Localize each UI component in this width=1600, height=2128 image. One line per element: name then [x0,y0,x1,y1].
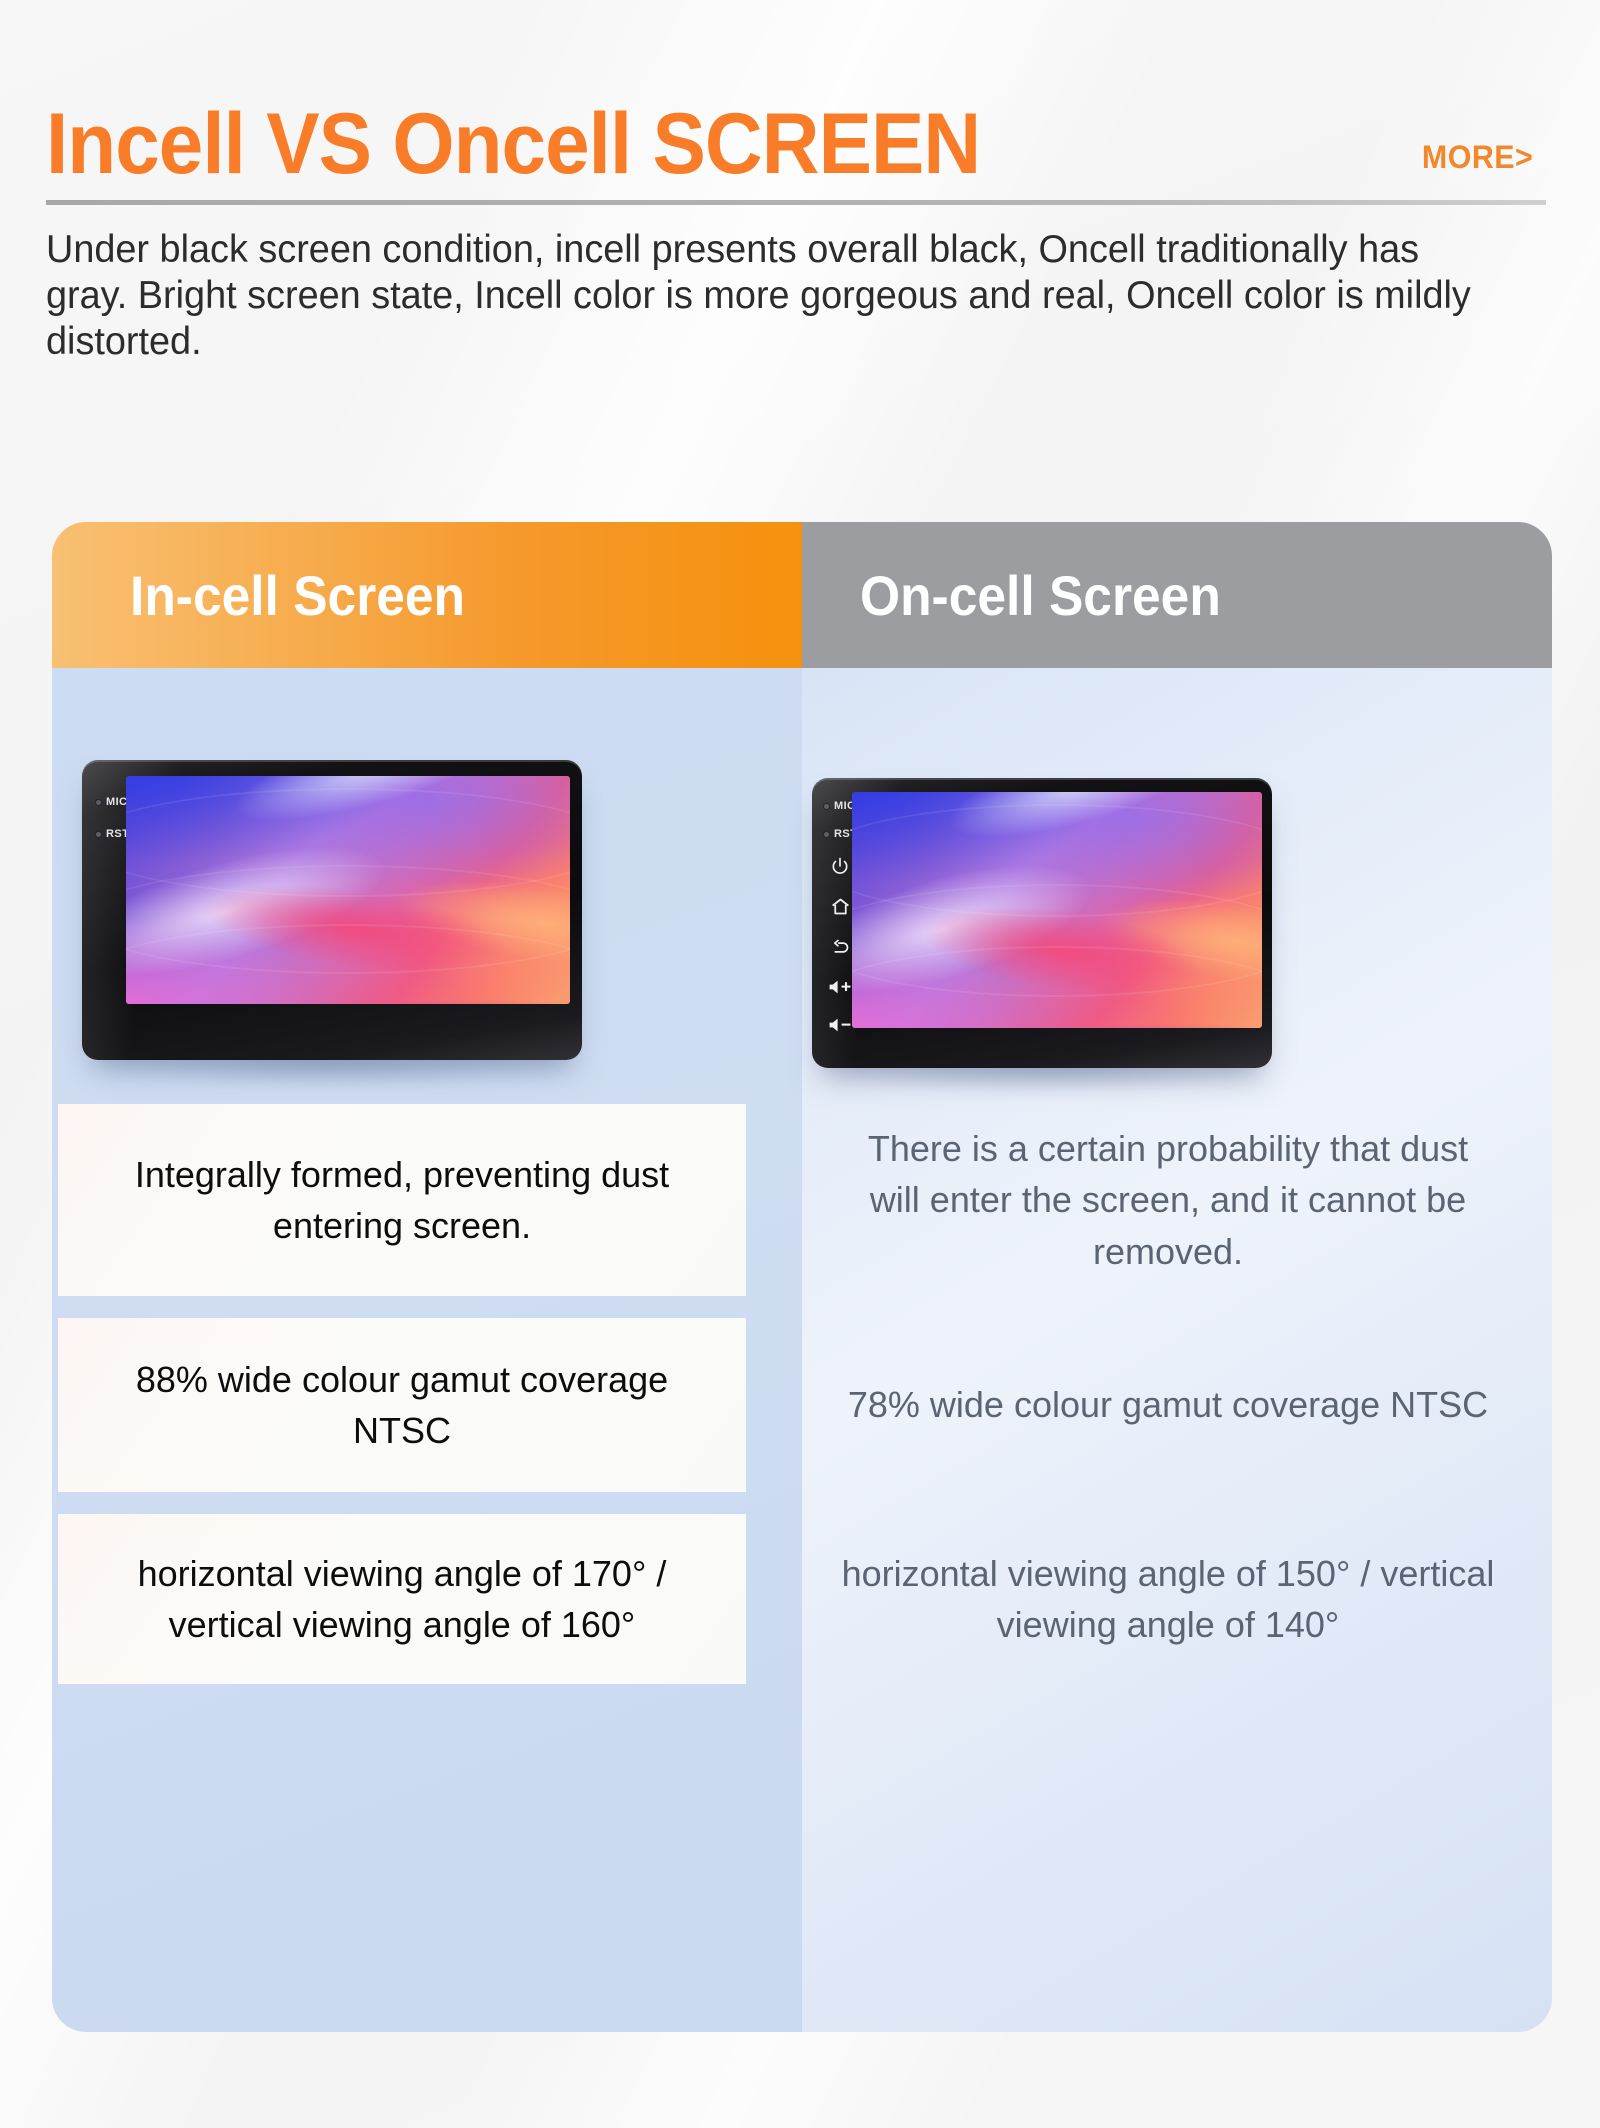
incell-device: MIC RST [82,760,582,1060]
oncell-device: MIC RST [812,778,1272,1068]
incell-feature-2: 88% wide colour gamut coverage NTSC [58,1318,746,1492]
reset-indicator-icon: RST [96,828,129,840]
comparison-body-band: MIC RST [52,668,1552,2032]
incell-heading: In-cell Screen [130,563,465,628]
power-icon[interactable] [830,856,850,880]
oncell-column: MIC RST [802,668,1552,2032]
incell-wallpaper [126,776,570,1004]
oncell-feature-1: There is a certain probability that dust… [818,1100,1518,1300]
incell-column: MIC RST [52,668,802,2032]
back-icon[interactable] [830,937,851,962]
intro-paragraph: Under black screen condition, incell pre… [46,227,1491,365]
home-icon[interactable] [830,896,851,921]
mic-indicator-icon: MIC [824,800,855,812]
oncell-feature-3: horizontal viewing angle of 150° / verti… [818,1514,1518,1684]
header: Incell VS Oncell SCREEN MORE> Under blac… [46,104,1554,365]
oncell-heading: On-cell Screen [860,563,1221,628]
incell-screen [126,776,570,1004]
incell-feature-1: Integrally formed, preventing dust enter… [58,1104,746,1296]
reset-dot-icon [824,832,829,837]
oncell-screen [852,792,1262,1028]
column-header-incell: In-cell Screen [52,522,802,668]
more-link[interactable]: MORE> [1422,139,1533,186]
comparison-header-band: In-cell Screen On-cell Screen [52,522,1552,668]
incell-feature-3: horizontal viewing angle of 170° / verti… [58,1514,746,1684]
volume-up-icon[interactable] [828,978,852,1000]
mic-label: MIC [106,796,127,808]
oncell-wallpaper [852,792,1262,1028]
column-header-oncell: On-cell Screen [802,522,1552,668]
reset-dot-icon [96,832,101,837]
mic-dot-icon [824,804,829,809]
title-row: Incell VS Oncell SCREEN MORE> [46,104,1554,186]
volume-down-icon[interactable] [828,1016,852,1038]
comparison-panel: In-cell Screen On-cell Screen MIC [52,522,1552,2032]
mic-dot-icon [96,800,101,805]
mic-indicator-icon: MIC [96,796,127,808]
incell-control-strip: MIC RST [96,796,129,840]
infographic-page: Incell VS Oncell SCREEN MORE> Under blac… [0,0,1600,2128]
oncell-feature-2: 78% wide colour gamut coverage NTSC [818,1320,1518,1490]
header-divider [46,200,1546,205]
page-title: Incell VS Oncell SCREEN [46,104,980,186]
